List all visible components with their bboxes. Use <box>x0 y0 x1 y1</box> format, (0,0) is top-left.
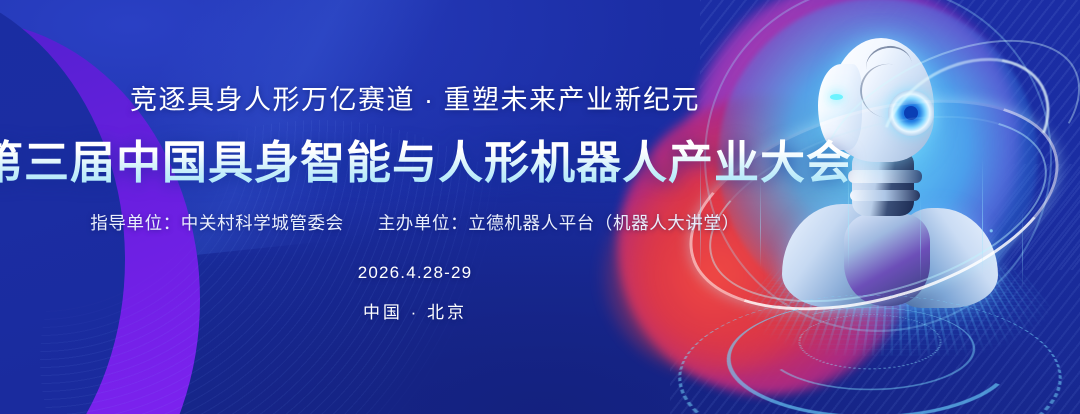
organizer-list: 指导单位：中关村科学城管委会 主办单位：立德机器人平台（机器人大讲堂） <box>90 210 739 235</box>
event-location: 中国 · 北京 <box>363 298 467 323</box>
conference-banner: 竞逐具身人形万亿赛道 · 重塑未来产业新纪元 第三届中国具身智能与人形机器人产业… <box>0 0 1080 414</box>
banner-text-block: 竞逐具身人形万亿赛道 · 重塑未来产业新纪元 第三届中国具身智能与人形机器人产业… <box>0 0 830 414</box>
robot-eye <box>830 94 843 100</box>
organizer-host: 主办单位：立德机器人平台（机器人大讲堂） <box>378 210 740 235</box>
banner-tagline: 竞逐具身人形万亿赛道 · 重塑未来产业新纪元 <box>130 78 700 117</box>
banner-title: 第三届中国具身智能与人形机器人产业大会 <box>0 126 852 191</box>
event-date: 2026.4.28-29 <box>358 263 473 283</box>
organizer-guidance: 指导单位：中关村科学城管委会 <box>90 210 343 235</box>
